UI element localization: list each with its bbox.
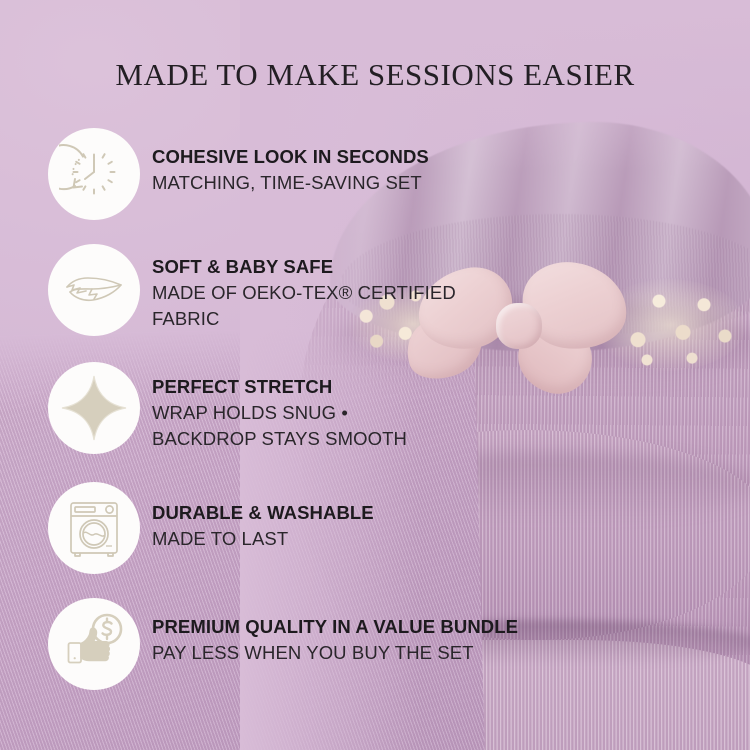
page-title: MADE TO MAKE SESSIONS EASIER <box>0 57 750 93</box>
feature-line: WRAP HOLDS SNUG • <box>152 401 407 425</box>
feature-heading: PREMIUM QUALITY IN A VALUE BUNDLE <box>152 616 518 639</box>
feature-line: BACKDROP STAYS SMOOTH <box>152 427 407 451</box>
feature-text: PREMIUM QUALITY IN A VALUE BUNDLE PAY LE… <box>152 598 518 665</box>
feature-line: FABRIC <box>152 307 456 331</box>
feature-text: DURABLE & WASHABLE MADE TO LAST <box>152 482 374 551</box>
feature-heading: COHESIVE LOOK IN SECONDS <box>152 146 429 169</box>
four-point-star-icon <box>48 362 140 454</box>
feature-heading: SOFT & BABY SAFE <box>152 256 456 279</box>
product-feature-graphic: MADE TO MAKE SESSIONS EASIER <box>0 0 750 750</box>
feature-text: COHESIVE LOOK IN SECONDS MATCHING, TIME-… <box>152 128 429 195</box>
feature-item-cohesive-look: COHESIVE LOOK IN SECONDS MATCHING, TIME-… <box>48 128 708 244</box>
feature-line: MATCHING, TIME-SAVING SET <box>152 171 429 195</box>
feature-text: SOFT & BABY SAFE MADE OF OEKO-TEX® CERTI… <box>152 244 456 331</box>
feather-icon <box>48 244 140 336</box>
feature-item-soft-baby-safe: SOFT & BABY SAFE MADE OF OEKO-TEX® CERTI… <box>48 244 708 362</box>
feature-line: MADE OF OEKO-TEX® CERTIFIED <box>152 281 456 305</box>
feature-item-perfect-stretch: PERFECT STRETCH WRAP HOLDS SNUG • BACKDR… <box>48 362 708 482</box>
clock-icon <box>48 128 140 220</box>
thumbs-up-dollar-icon <box>48 598 140 690</box>
feature-item-premium-value: PREMIUM QUALITY IN A VALUE BUNDLE PAY LE… <box>48 598 708 698</box>
feature-item-durable-washable: DURABLE & WASHABLE MADE TO LAST <box>48 482 708 598</box>
feature-heading: PERFECT STRETCH <box>152 376 407 399</box>
feature-line: PAY LESS WHEN YOU BUY THE SET <box>152 641 518 665</box>
feature-heading: DURABLE & WASHABLE <box>152 502 374 525</box>
feature-line: MADE TO LAST <box>152 527 374 551</box>
feature-text: PERFECT STRETCH WRAP HOLDS SNUG • BACKDR… <box>152 362 407 451</box>
washing-machine-icon <box>48 482 140 574</box>
feature-list: COHESIVE LOOK IN SECONDS MATCHING, TIME-… <box>48 128 708 698</box>
